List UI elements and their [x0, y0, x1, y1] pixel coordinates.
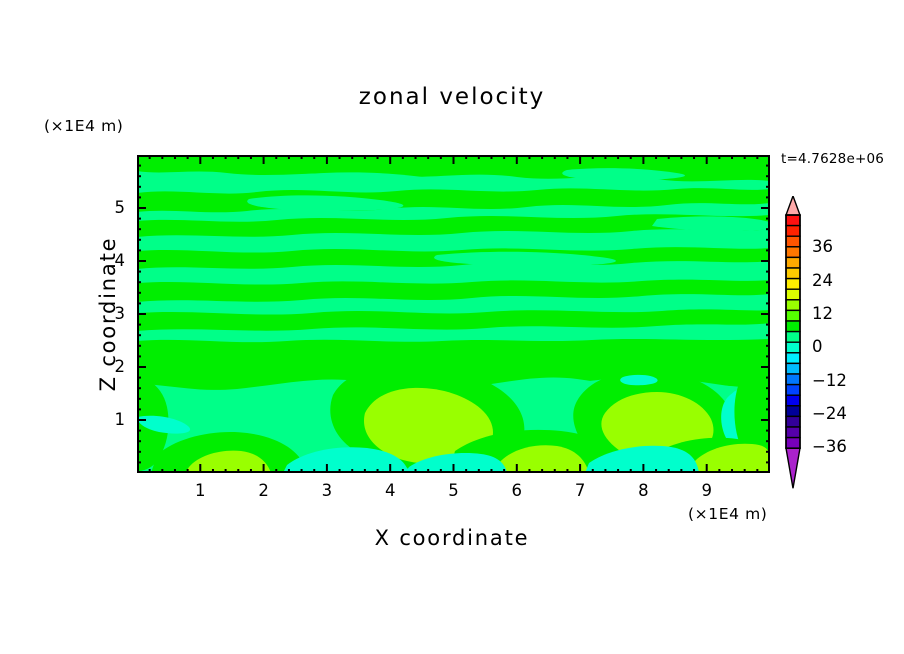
colorbar-band: [786, 363, 800, 374]
page-title: zonal velocity: [0, 84, 904, 110]
colorbar-tick-label: −36: [812, 437, 847, 456]
x-tick-label: 7: [565, 481, 595, 500]
x-tick-label: 1: [185, 481, 215, 500]
y-axis-unit-label: (×1E4 m): [44, 117, 123, 135]
x-tick-label: 2: [249, 481, 279, 500]
colorbar-band: [786, 226, 800, 237]
colorbar-tick-label: −24: [812, 404, 847, 423]
colorbar-band: [786, 332, 800, 343]
colorbar-band: [786, 215, 800, 226]
colorbar-tick-label: 36: [812, 237, 833, 256]
timestamp-label: t=4.7628e+06: [781, 151, 884, 167]
colorbar-tick-label: 12: [812, 304, 833, 323]
colorbar-band: [786, 268, 800, 279]
colorbar-band: [786, 385, 800, 396]
y-tick-label: 5: [101, 198, 125, 217]
x-axis-title: X coordinate: [0, 526, 904, 550]
contour-plot-area: [137, 155, 770, 473]
colorbar-band: [786, 374, 800, 385]
colorbar-band: [786, 406, 800, 417]
colorbar-band: [786, 257, 800, 268]
colorbar-band: [786, 342, 800, 353]
colorbar-tick-label: 0: [812, 337, 823, 356]
colorbar-band: [786, 321, 800, 332]
colorbar-band: [786, 395, 800, 406]
x-tick-label: 5: [439, 481, 469, 500]
y-tick-label: 2: [101, 357, 125, 376]
y-tick-label: 4: [101, 251, 125, 270]
x-axis-unit-label: (×1E4 m): [688, 505, 767, 523]
colorbar-band: [786, 289, 800, 300]
colorbar-tick-label: 24: [812, 271, 833, 290]
y-tick-label: 1: [101, 410, 125, 429]
x-tick-label: 8: [628, 481, 658, 500]
x-tick-label: 9: [692, 481, 722, 500]
colorbar-band: [786, 247, 800, 258]
colorbar-tick-label: −12: [812, 371, 847, 390]
colorbar-band: [786, 438, 800, 449]
colorbar-band: [786, 353, 800, 364]
colorbar-over-arrow: [786, 196, 800, 215]
colorbar-band: [786, 310, 800, 321]
colorbar-under-arrow: [786, 448, 800, 488]
x-tick-label: 6: [502, 481, 532, 500]
colorbar-band: [786, 300, 800, 311]
colorbar-band: [786, 427, 800, 438]
x-tick-label: 4: [375, 481, 405, 500]
y-tick-label: 3: [101, 304, 125, 323]
x-tick-label: 3: [312, 481, 342, 500]
colorbar-band: [786, 236, 800, 247]
colorbar-band: [786, 416, 800, 427]
axis-tick-marks: [137, 155, 770, 473]
figure-canvas: zonal velocity (×1E4 m) (×1E4 m) X coord…: [0, 0, 904, 654]
colorbar-band: [786, 279, 800, 290]
